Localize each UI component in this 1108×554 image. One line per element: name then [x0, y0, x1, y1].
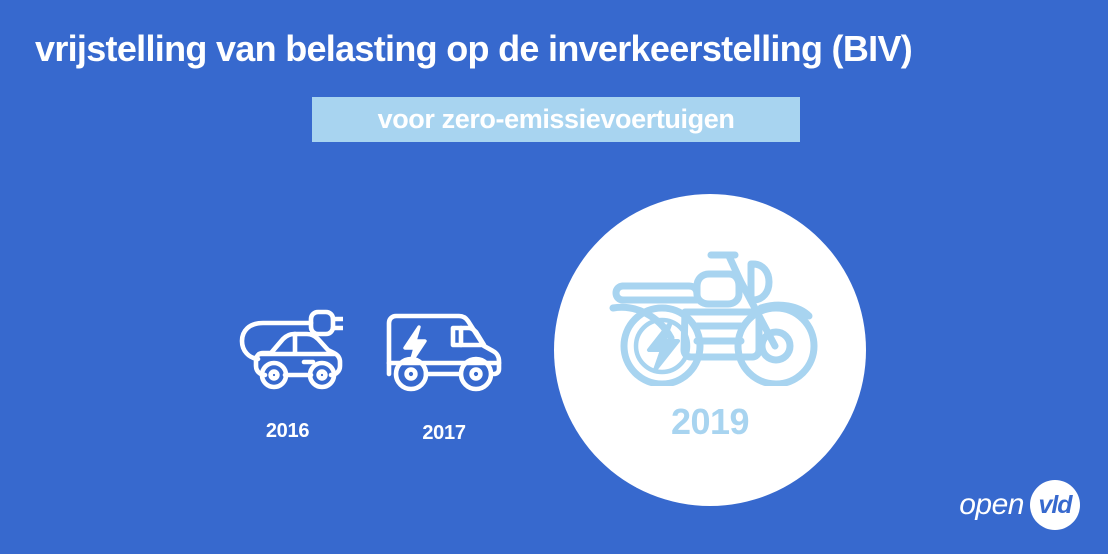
logo-vld-circle: vld [1030, 480, 1080, 530]
milestone-2016: 2016 [230, 305, 345, 443]
logo-word-open: open [959, 488, 1024, 522]
milestone-year-label: 2016 [266, 420, 309, 443]
page-title: vrijstelling van belasting op de inverke… [35, 26, 1085, 72]
electric-car-icon [233, 305, 343, 398]
milestone-year-label: 2017 [422, 422, 465, 445]
highlight-circle-2019: 2019 [554, 194, 866, 506]
logo-word-vld: vld [1038, 491, 1071, 520]
electric-van-icon [381, 300, 507, 400]
milestone-2017: 2017 [378, 300, 510, 445]
openvld-logo: open vld [959, 480, 1080, 530]
infographic-poster: vrijstelling van belasting op de inverke… [0, 0, 1108, 554]
subtitle-badge: voor zero-emissievoertuigen [312, 97, 800, 142]
electric-motorcycle-icon [601, 246, 819, 391]
highlight-year-label: 2019 [671, 401, 749, 443]
subtitle-text: voor zero-emissievoertuigen [378, 104, 735, 135]
